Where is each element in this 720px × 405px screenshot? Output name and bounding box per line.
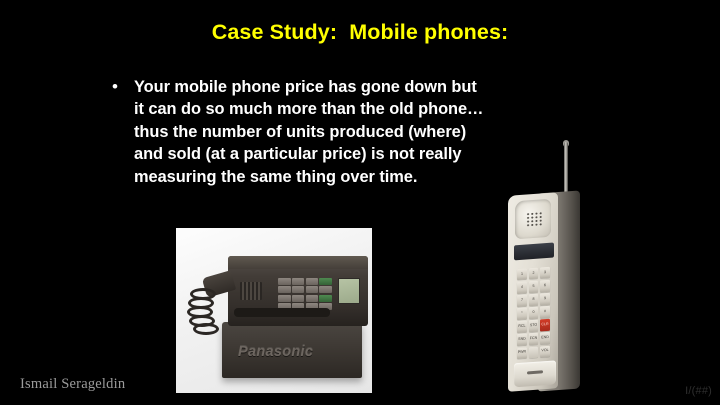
coiled-phone-cord: [188, 286, 232, 338]
keypad-key: CLR: [540, 319, 550, 331]
phone-lcd-display: [338, 278, 360, 304]
keypad-key: [278, 286, 291, 293]
slide-canvas: Case Study: Mobile phones: • Your mobile…: [0, 0, 720, 405]
keypad-key: [278, 295, 291, 302]
phone-led-display: [514, 243, 554, 261]
keypad-key: 0: [529, 307, 539, 319]
keypad-key: [278, 278, 291, 285]
phone-top-edge: [228, 256, 368, 269]
keypad-key: [292, 278, 305, 285]
cord-loop: [193, 323, 219, 335]
bullet-line: it can do so much more than the old phon…: [134, 98, 603, 120]
phone-mouthpiece-plate: [514, 360, 556, 387]
bullet-line: thus the number of units produced (where…: [134, 121, 603, 143]
keypad-key: PWR: [517, 347, 527, 359]
phone-keypad: [278, 278, 332, 310]
phone-front-face: 1 2 3 4 5 6 7 8 9 * 0 # RCL STO CLR SND …: [508, 192, 558, 391]
keypad-key: END: [540, 332, 550, 344]
keypad-key: #: [540, 306, 550, 318]
phone-base-housing: Panasonic: [222, 322, 362, 378]
keypad-key: 7: [517, 295, 527, 307]
keypad-key: SND: [517, 334, 527, 346]
keypad-key: RCL: [517, 321, 527, 333]
speaker-holes-icon: [526, 211, 543, 227]
author-credit: Ismail Serageldin: [20, 376, 125, 393]
keypad-key: [319, 295, 332, 302]
keypad-key: 3: [540, 267, 550, 279]
vintage-panasonic-bag-phone-photo: Panasonic: [176, 228, 372, 393]
page-title: Case Study: Mobile phones:: [0, 20, 720, 45]
keypad-key: 1: [517, 268, 527, 280]
handset-cradle-slot: [234, 308, 330, 317]
motorola-dynatac-brick-phone-photo: 1 2 3 4 5 6 7 8 9 * 0 # RCL STO CLR SND …: [492, 142, 604, 400]
keypad-key: [306, 278, 319, 285]
keypad-key: 4: [517, 282, 527, 294]
speaker-grille-icon: [240, 282, 262, 300]
keypad-key: FCN: [529, 333, 539, 345]
keypad-key: 6: [540, 280, 550, 292]
keypad-key: 9: [540, 293, 550, 305]
phone-keypad: 1 2 3 4 5 6 7 8 9 * 0 # RCL STO CLR SND …: [517, 267, 550, 359]
panasonic-brand-label: Panasonic: [238, 344, 313, 360]
mouthpiece-slot: [527, 370, 543, 374]
keypad-key: *: [517, 308, 527, 320]
keypad-key: [306, 295, 319, 302]
keypad-key: [319, 278, 332, 285]
bullet-line: Your mobile phone price has gone down bu…: [134, 76, 603, 98]
keypad-key: VOL: [540, 345, 550, 357]
keypad-key: [319, 286, 332, 293]
keypad-key: [292, 295, 305, 302]
keypad-key: [306, 286, 319, 293]
page-marker: I/(##): [685, 385, 712, 397]
keypad-key: STO: [529, 320, 539, 332]
earpiece: [515, 199, 551, 240]
keypad-key: 5: [529, 281, 539, 293]
phone-upper-body: [228, 256, 368, 326]
keypad-key: [529, 346, 539, 358]
keypad-key: 8: [529, 294, 539, 306]
keypad-key: [292, 286, 305, 293]
bullet-marker-icon: •: [112, 76, 118, 99]
keypad-key: 2: [529, 268, 539, 280]
